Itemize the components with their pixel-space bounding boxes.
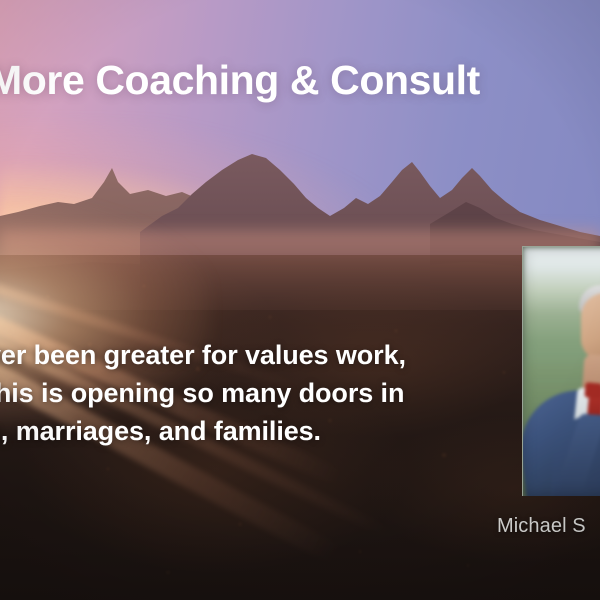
testimonial-quote: ver been greater for values work, this i… xyxy=(0,336,600,450)
slide-title: More Coaching & Consult xyxy=(0,58,600,104)
quote-line-2: this is opening so many doors in xyxy=(0,374,600,412)
quote-line-3: s, marriages, and families. xyxy=(0,412,600,450)
speaker-photo xyxy=(522,246,600,496)
photo-inner-shadow xyxy=(523,247,600,496)
quote-line-1: ver been greater for values work, xyxy=(0,336,600,374)
speaker-name-caption: Michael S xyxy=(497,515,586,538)
promo-slide: More Coaching & Consult ver been greater… xyxy=(0,0,600,600)
